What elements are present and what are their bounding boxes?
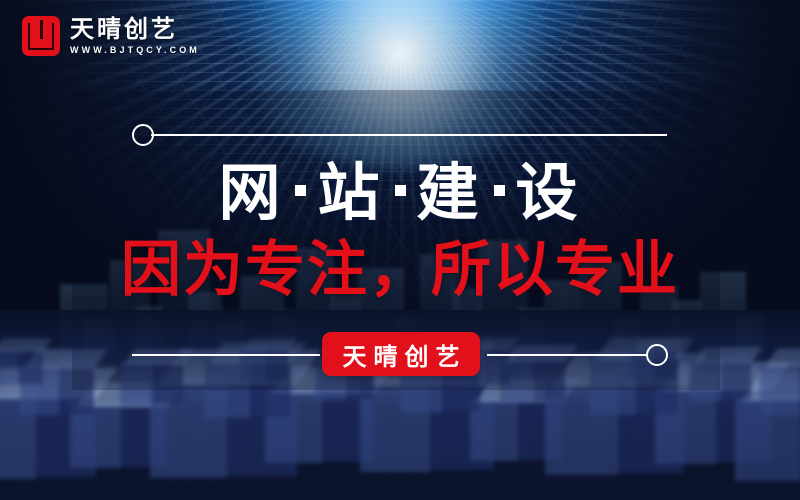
website-construction-banner: 天晴创艺 WWW.BJTQCY.COM 网站建设 因为专注，所以专业 天晴创艺 <box>0 0 800 500</box>
top-divider-line <box>151 134 667 136</box>
logo-text-block: 天晴创艺 WWW.BJTQCY.COM <box>70 17 200 55</box>
logo-mark-icon <box>22 16 60 56</box>
title-character: 建 <box>417 156 483 229</box>
headline-title: 网站建设 <box>0 162 800 224</box>
bottom-divider-line-left <box>132 354 320 356</box>
title-character: 网 <box>218 156 284 229</box>
title-character: 站 <box>317 156 383 229</box>
title-separator-dot <box>295 185 306 196</box>
title-character: 设 <box>516 156 582 229</box>
title-separator-dot <box>494 185 505 196</box>
top-ring-icon <box>132 124 154 146</box>
bottom-ring-icon <box>646 344 668 366</box>
brand-badge: 天晴创艺 <box>322 332 480 376</box>
brand-logo[interactable]: 天晴创艺 WWW.BJTQCY.COM <box>22 16 200 56</box>
headline-subtitle: 因为专注，所以专业 <box>0 240 800 300</box>
logo-website-url: WWW.BJTQCY.COM <box>70 45 200 55</box>
logo-company-name: 天晴创艺 <box>70 17 200 42</box>
bottom-divider-line-right <box>487 354 647 356</box>
title-separator-dot <box>395 185 406 196</box>
